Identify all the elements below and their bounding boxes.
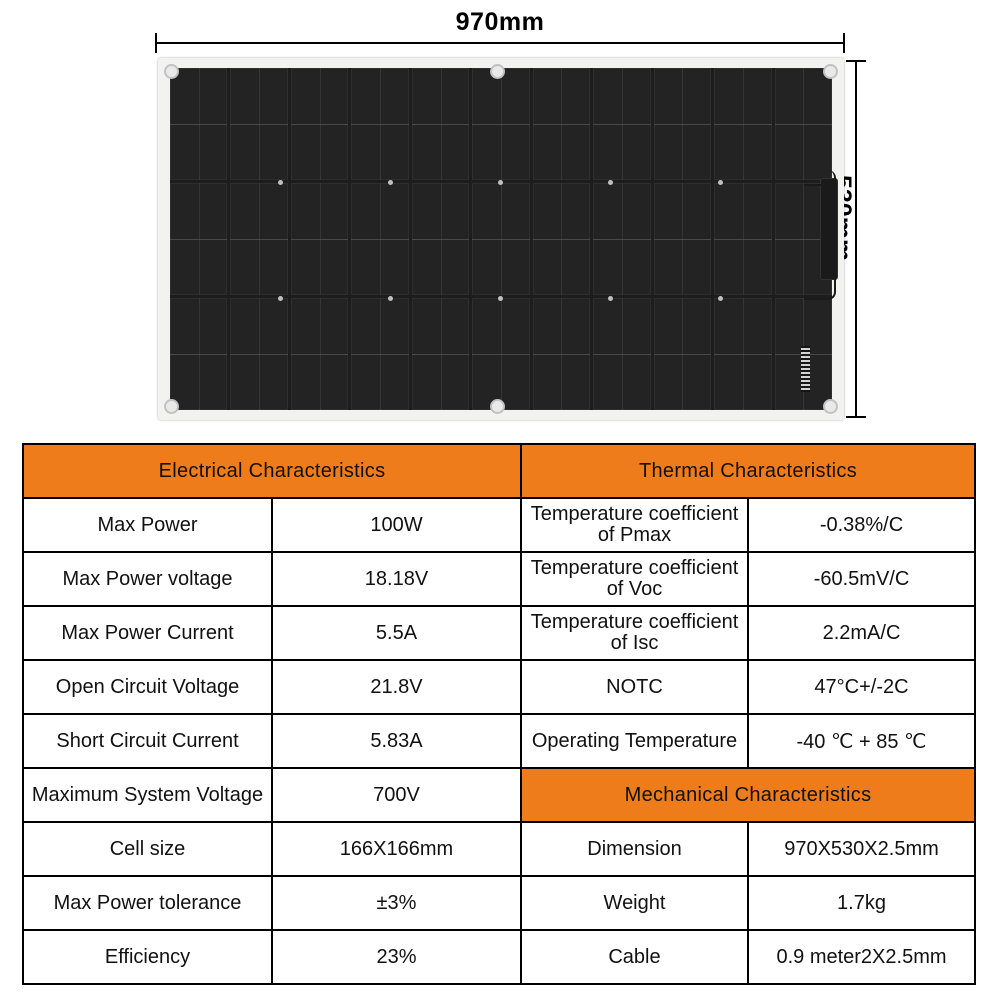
row-label: Maximum System Voltage [23,768,272,822]
table-row: Temperature coefficient of Voc -60.5mV/C [521,552,975,606]
solar-cell [593,183,650,295]
mechanical-table-header: Mechanical Characteristics [521,768,975,822]
solar-cell [291,68,348,180]
table-row: Operating Temperature -40 ℃ + 85 ℃ [521,714,975,768]
row-label: Temperature coefficient of Voc [521,552,748,606]
row-value: 1.7kg [748,876,975,930]
table-row: Max Power tolerance ±3% [23,876,521,930]
row-label: Dimension [521,822,748,876]
busbar-dot [498,180,503,185]
solar-cell [412,68,469,180]
row-label: Max Power voltage [23,552,272,606]
cell-grid [170,68,832,410]
row-value: 5.5A [272,606,521,660]
product-image-area: 970mm 530mm [0,0,1000,440]
busbar-dot [278,296,283,301]
table-row: Temperature coefficient of Pmax -0.38%/C [521,498,975,552]
row-label: Weight [521,876,748,930]
solar-cell [775,68,832,180]
solar-cell [351,183,408,295]
solar-cell [472,68,529,180]
solar-cell [230,68,287,180]
row-label: NOTC [521,660,748,714]
row-value: 166X166mm [272,822,521,876]
row-value: ±3% [272,876,521,930]
row-label: Cell size [23,822,272,876]
row-label: Efficiency [23,930,272,984]
mounting-grommet [823,64,838,79]
product-spec-page: 970mm 530mm [0,0,1000,1000]
solar-cell [230,183,287,295]
solar-cell [593,68,650,180]
busbar-dot [608,180,613,185]
busbar-dot [718,180,723,185]
mounting-grommet [823,399,838,414]
busbar-dot [718,296,723,301]
table-row: Cell size 166X166mm [23,822,521,876]
row-value: 18.18V [272,552,521,606]
thermal-table-header: Thermal Characteristics [521,444,975,498]
table-row: Short Circuit Current 5.83A [23,714,521,768]
row-value: 100W [272,498,521,552]
mounting-grommet [164,64,179,79]
row-value: -0.38%/C [748,498,975,552]
solar-cell [654,183,711,295]
row-value: 21.8V [272,660,521,714]
specification-tables: Electrical Characteristics Max Power 100… [22,443,978,985]
mounting-grommet [490,399,505,414]
table-row: Max Power voltage 18.18V [23,552,521,606]
row-label: Open Circuit Voltage [23,660,272,714]
width-dimension-line [155,42,845,44]
table-row: Weight 1.7kg [521,876,975,930]
solar-cell [170,298,227,410]
solar-cell [351,298,408,410]
solar-cell [291,298,348,410]
row-value: 5.83A [272,714,521,768]
row-value: 47°C+/-2C [748,660,975,714]
table-row: Cable 0.9 meter2X2.5mm [521,930,975,984]
cable-wire [804,170,836,186]
row-label: Operating Temperature [521,714,748,768]
cable-wire [804,276,836,300]
mounting-grommet [490,64,505,79]
width-dimension-label: 970mm [0,8,1000,37]
table-row: Max Power Current 5.5A [23,606,521,660]
table-row: Efficiency 23% [23,930,521,984]
solar-cell [533,68,590,180]
row-label: Temperature coefficient of Isc [521,606,748,660]
busbar-dot [388,180,393,185]
solar-cell [714,183,771,295]
solar-cell [291,183,348,295]
barcode-label [801,346,810,392]
solar-panel-cells [170,68,832,410]
busbar-dot [388,296,393,301]
mounting-grommet [164,399,179,414]
solar-cell [533,298,590,410]
row-label: Max Power tolerance [23,876,272,930]
solar-cell [533,183,590,295]
solar-cell [170,183,227,295]
table-row: Open Circuit Voltage 21.8V [23,660,521,714]
row-value: 0.9 meter2X2.5mm [748,930,975,984]
solar-cell [170,68,227,180]
solar-cell [472,298,529,410]
row-value: 2.2mA/C [748,606,975,660]
solar-cell [714,68,771,180]
row-label: Max Power [23,498,272,552]
solar-cell [714,298,771,410]
junction-box [820,178,838,280]
row-label: Temperature coefficient of Pmax [521,498,748,552]
table-row: Maximum System Voltage 700V [23,768,521,822]
solar-cell [412,183,469,295]
solar-cell [412,298,469,410]
solar-cell [593,298,650,410]
table-row: Temperature coefficient of Isc 2.2mA/C [521,606,975,660]
electrical-table-header: Electrical Characteristics [23,444,521,498]
row-value: 970X530X2.5mm [748,822,975,876]
row-label: Max Power Current [23,606,272,660]
solar-panel-image [158,58,844,420]
solar-cell [472,183,529,295]
row-label: Short Circuit Current [23,714,272,768]
table-row: Max Power 100W [23,498,521,552]
row-label: Cable [521,930,748,984]
solar-cell [654,298,711,410]
row-value: 23% [272,930,521,984]
table-row: Dimension 970X530X2.5mm [521,822,975,876]
row-value: 700V [272,768,521,822]
busbar-dot [608,296,613,301]
solar-cell [351,68,408,180]
solar-cell [230,298,287,410]
electrical-characteristics-table: Electrical Characteristics Max Power 100… [22,443,522,985]
busbar-dot [278,180,283,185]
solar-cell [654,68,711,180]
table-row: NOTC 47°C+/-2C [521,660,975,714]
thermal-mechanical-table: Thermal Characteristics Temperature coef… [520,443,976,985]
row-value: -40 ℃ + 85 ℃ [748,714,975,768]
row-value: -60.5mV/C [748,552,975,606]
busbar-dot [498,296,503,301]
